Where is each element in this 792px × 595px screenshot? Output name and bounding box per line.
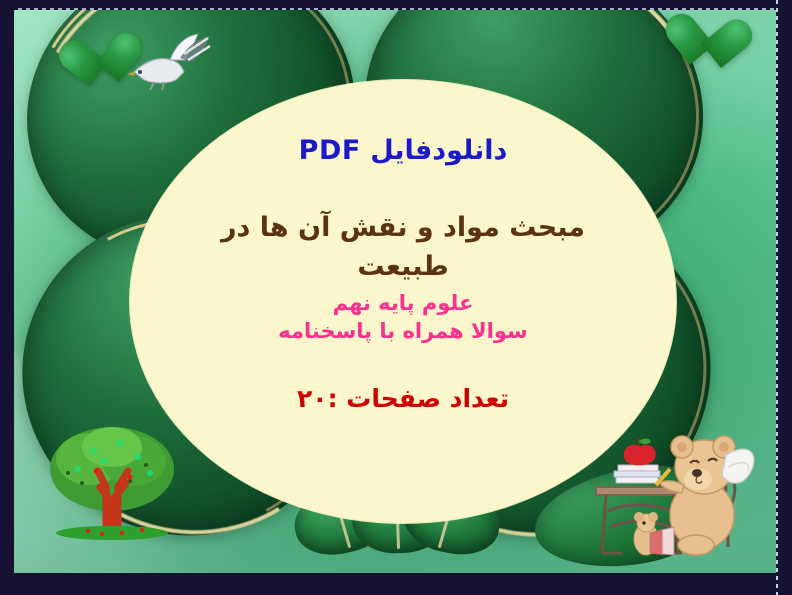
content-oval: دانلودفایل PDF مبحث مواد و نقش آن ها در … <box>130 80 676 523</box>
slide-canvas: دانلودفایل PDF مبحث مواد و نقش آن ها در … <box>0 0 792 595</box>
subtitle-grade: علوم پایه نهم <box>333 290 474 316</box>
page-count-label: تعداد صفحات :۲۰ <box>297 384 509 413</box>
page-title: مبحث مواد و نقش آن ها در طبیعت <box>193 208 613 286</box>
right-edge-dashed-rule <box>776 0 778 595</box>
download-pdf-label[interactable]: دانلودفایل PDF <box>299 136 508 166</box>
subtitle-answers: سوالا همراه با پاسخنامه <box>278 318 527 344</box>
oval-text-stack: دانلودفایل PDF مبحث مواد و نقش آن ها در … <box>130 80 676 523</box>
top-edge-dashed-rule <box>18 8 774 10</box>
heart-icon-top-right <box>660 14 726 75</box>
heart-icon-top-left <box>56 36 121 96</box>
